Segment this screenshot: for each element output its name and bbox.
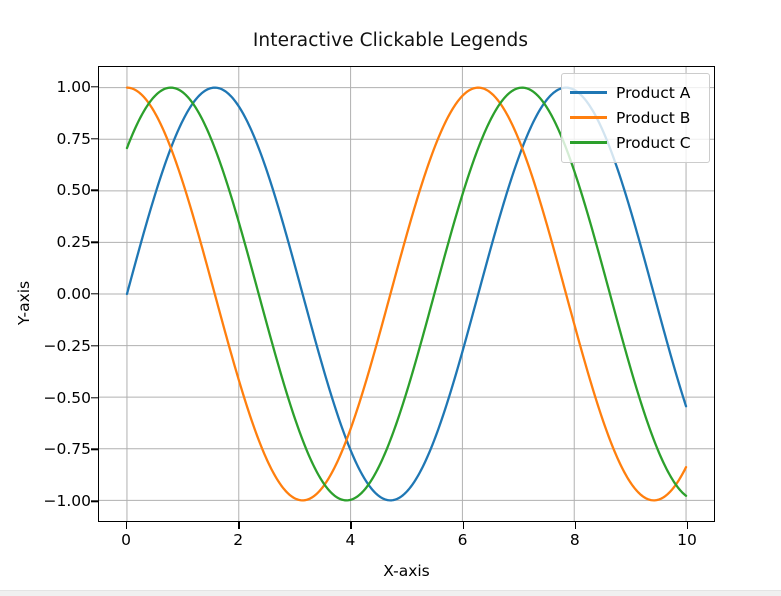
y-tick-mark: [91, 293, 98, 294]
x-tick-mark: [575, 522, 576, 529]
legend-label-product-a: Product A: [616, 84, 690, 102]
legend-swatch-product-b: [570, 116, 607, 119]
page-bottom-band: [0, 590, 781, 596]
x-tick-label: 10: [657, 531, 717, 549]
legend-swatch-product-c: [570, 141, 607, 144]
y-tick-label: 1.00: [21, 78, 91, 96]
matplotlib-figure: Interactive Clickable Legends Y-axis X-a…: [0, 0, 781, 590]
x-tick-mark: [238, 522, 239, 529]
x-tick-label: 2: [208, 531, 268, 549]
y-tick-mark: [91, 190, 98, 191]
y-tick-label: −0.25: [21, 337, 91, 355]
x-axis-label: X-axis: [98, 562, 715, 580]
legend-label-product-b: Product B: [616, 109, 690, 127]
y-tick-label: −1.00: [21, 492, 91, 510]
y-tick-mark: [91, 241, 98, 242]
y-tick-label: 0.00: [21, 285, 91, 303]
legend-item-1[interactable]: Product B: [570, 105, 701, 130]
x-tick-label: 4: [320, 531, 380, 549]
legend-item-2[interactable]: Product C: [570, 130, 701, 155]
x-tick-mark: [350, 522, 351, 529]
y-tick-label: 0.75: [21, 130, 91, 148]
legend-swatch-product-a: [570, 91, 607, 94]
y-tick-mark: [91, 345, 98, 346]
x-tick-label: 6: [433, 531, 493, 549]
x-tick-label: 8: [545, 531, 605, 549]
legend-item-0[interactable]: Product A: [570, 80, 701, 105]
x-tick-mark: [463, 522, 464, 529]
legend-label-product-c: Product C: [616, 134, 691, 152]
y-tick-mark: [91, 138, 98, 139]
y-tick-mark: [91, 86, 98, 87]
y-tick-mark: [91, 449, 98, 450]
y-tick-label: 0.25: [21, 233, 91, 251]
legend-box[interactable]: Product A Product B Product C: [561, 73, 710, 163]
x-tick-mark: [126, 522, 127, 529]
y-tick-mark: [91, 397, 98, 398]
y-tick-mark: [91, 501, 98, 502]
y-tick-label: 0.50: [21, 181, 91, 199]
y-tick-label: −0.50: [21, 389, 91, 407]
x-tick-label: 0: [96, 531, 156, 549]
y-tick-label: −0.75: [21, 440, 91, 458]
chart-title: Interactive Clickable Legends: [0, 30, 781, 51]
x-tick-mark: [687, 522, 688, 529]
